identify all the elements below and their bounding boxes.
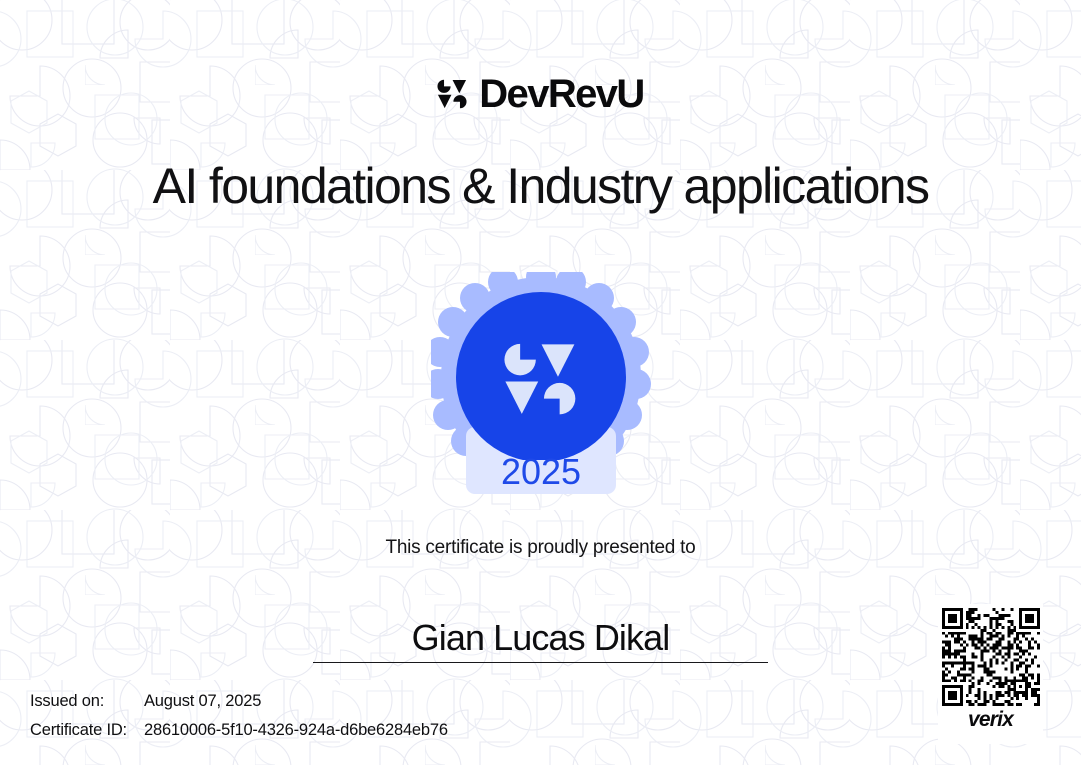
signature-rule (313, 662, 768, 663)
verification-provider: verix (968, 709, 1013, 730)
course-title: AI foundations & Industry applications (0, 158, 1081, 214)
issued-on-value: August 07, 2025 (144, 692, 261, 711)
certificate-page: DevRevU AI foundations & Industry applic… (0, 0, 1081, 765)
issued-on-row: Issued on: August 07, 2025 (30, 692, 448, 721)
certificate-id-row: Certificate ID: 28610006-5f10-4326-924a-… (30, 721, 448, 750)
devrev-logo-icon (437, 79, 467, 109)
presented-to-label: This certificate is proudly presented to (0, 537, 1081, 559)
achievement-badge: 2025 (431, 272, 651, 494)
issued-on-label: Issued on: (30, 692, 144, 711)
brand-name: DevRevU (479, 74, 643, 114)
certificate-id-value: 28610006-5f10-4326-924a-d6be6284eb76 (144, 721, 448, 740)
qr-code-icon[interactable] (942, 608, 1040, 706)
badge-year-label: 2025 (500, 451, 580, 492)
certificate-meta: Issued on: August 07, 2025 Certificate I… (30, 692, 448, 750)
badge-disc (456, 292, 626, 462)
brand-header: DevRevU (0, 74, 1081, 114)
verification-card[interactable]: verix (938, 604, 1043, 744)
certificate-id-label: Certificate ID: (30, 721, 144, 740)
recipient-name: Gian Lucas Dikal (313, 617, 768, 658)
